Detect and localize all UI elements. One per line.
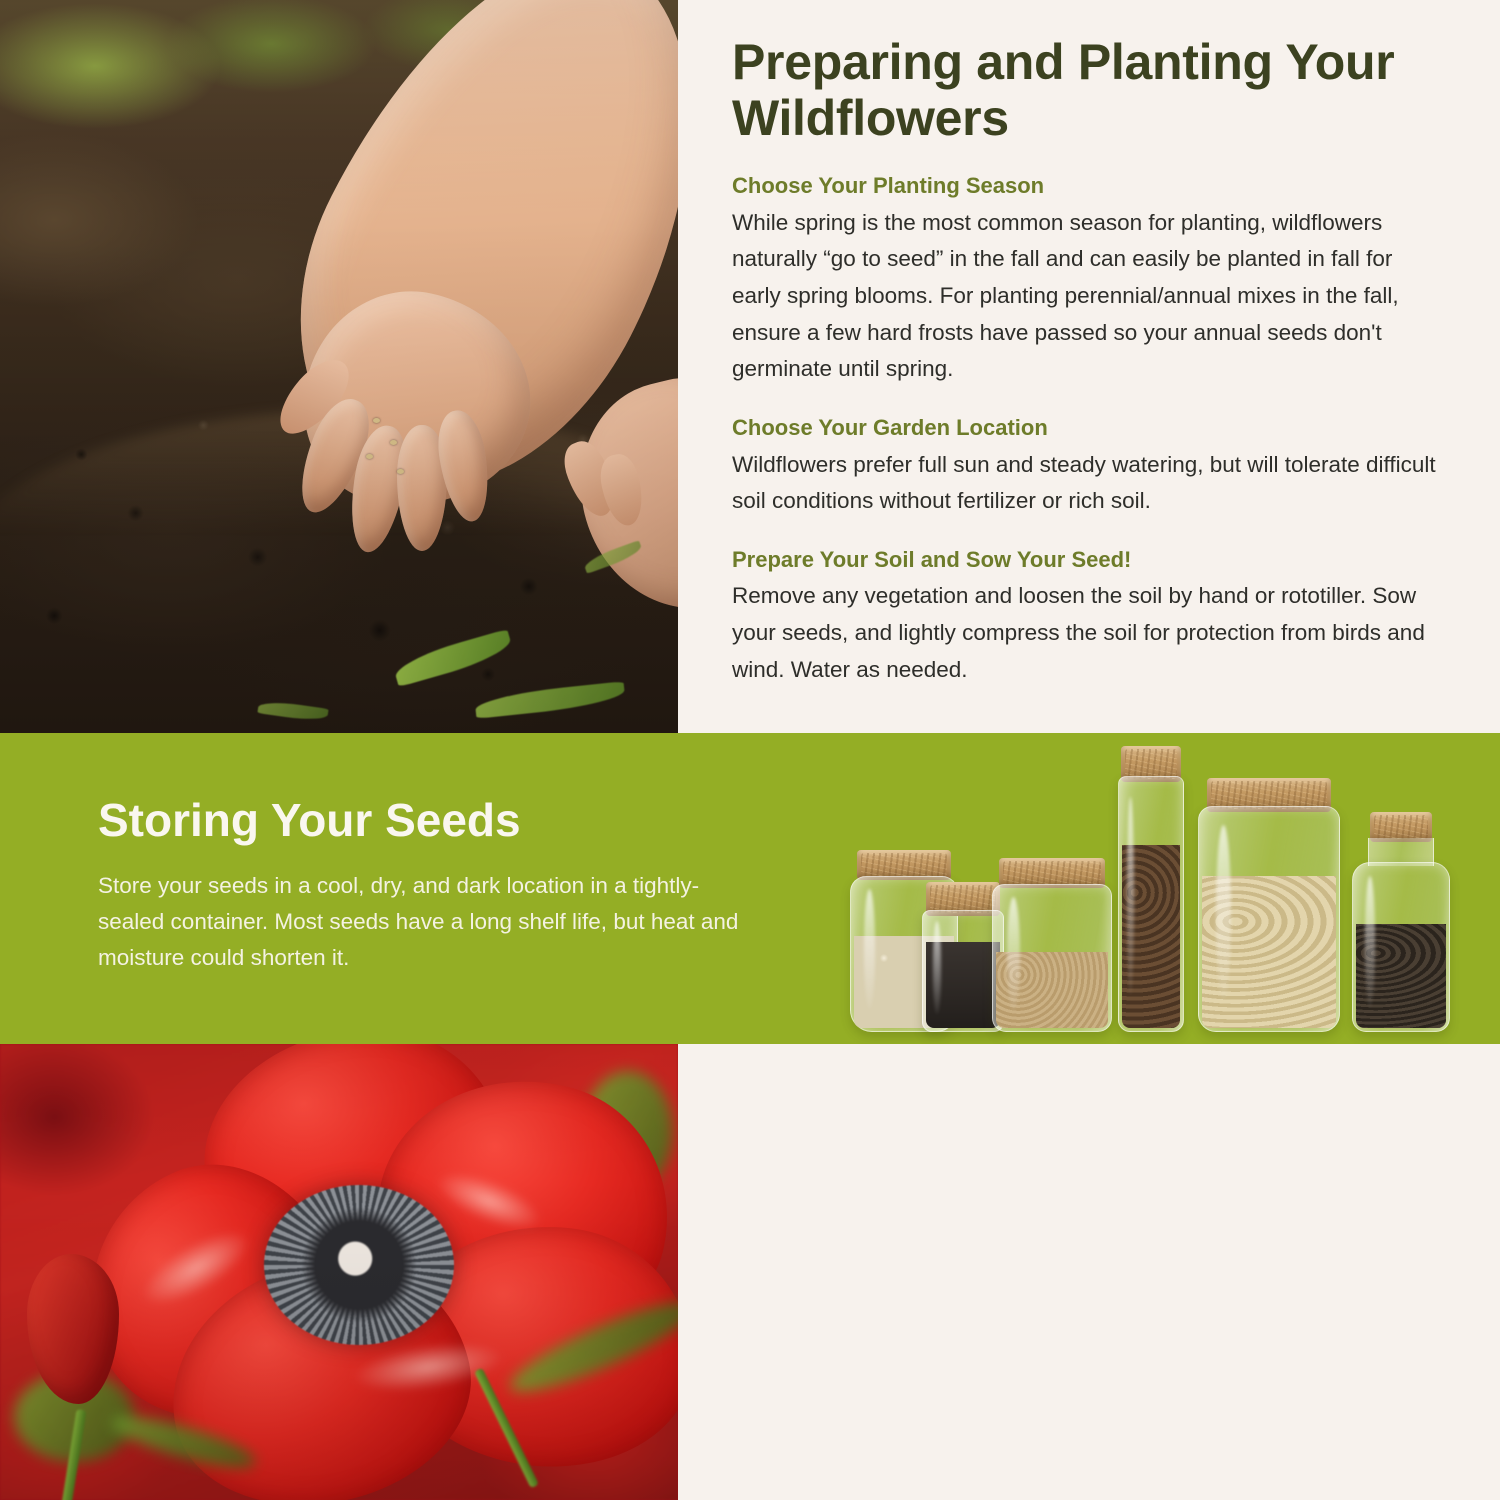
jar-sunflower-seeds [1352, 812, 1450, 1030]
planting-text-column: Preparing and Planting Your Wildflowers … [732, 34, 1440, 689]
seed [390, 440, 397, 445]
glass-highlight [1216, 825, 1231, 1000]
section-preparing-and-planting: Preparing and Planting Your Wildflowers … [0, 0, 1500, 733]
jar-tan-grain [992, 858, 1112, 1030]
storing-paragraph: Store your seeds in a cool, dry, and dar… [98, 868, 748, 977]
glass-highlight [1007, 897, 1020, 1011]
paragraph-planting-season: While spring is the most common season f… [732, 205, 1440, 388]
glass-highlight [1127, 797, 1134, 995]
photo-hands-sowing-seeds [0, 0, 678, 733]
jar-glass [1352, 862, 1450, 1032]
paragraph-garden-location: Wildflowers prefer full sun and steady w… [732, 447, 1440, 520]
jar-glass [1198, 806, 1340, 1032]
jar-glass [1118, 776, 1184, 1032]
section-storing-your-seeds: Storing Your Seeds Store your seeds in a… [0, 733, 1500, 1044]
photo-red-poppy [0, 1044, 678, 1500]
page-title: Preparing and Planting Your Wildflowers [732, 34, 1440, 146]
subheading-prepare-soil: Prepare Your Soil and Sow Your Seed! [732, 546, 1440, 575]
seed [373, 418, 380, 423]
jar-glass [992, 884, 1112, 1032]
poppy-stamen-center [264, 1185, 454, 1345]
jar-pumpkin-seeds [1198, 778, 1340, 1030]
section-what-to-expect: What to Expect When Planting an Annual &… [0, 1044, 1500, 1500]
jar-brown-seeds [1118, 746, 1184, 1030]
infographic-page: Preparing and Planting Your Wildflowers … [0, 0, 1500, 1500]
storing-text-column: Storing Your Seeds Store your seeds in a… [98, 795, 748, 977]
subheading-garden-location: Choose Your Garden Location [732, 414, 1440, 443]
photo-seed-jars [840, 733, 1500, 1044]
seed [397, 469, 404, 474]
storing-heading: Storing Your Seeds [98, 795, 748, 846]
paragraph-prepare-soil: Remove any vegetation and loosen the soi… [732, 578, 1440, 688]
glass-highlight [1365, 876, 1376, 1007]
subheading-planting-season: Choose Your Planting Season [732, 172, 1440, 201]
